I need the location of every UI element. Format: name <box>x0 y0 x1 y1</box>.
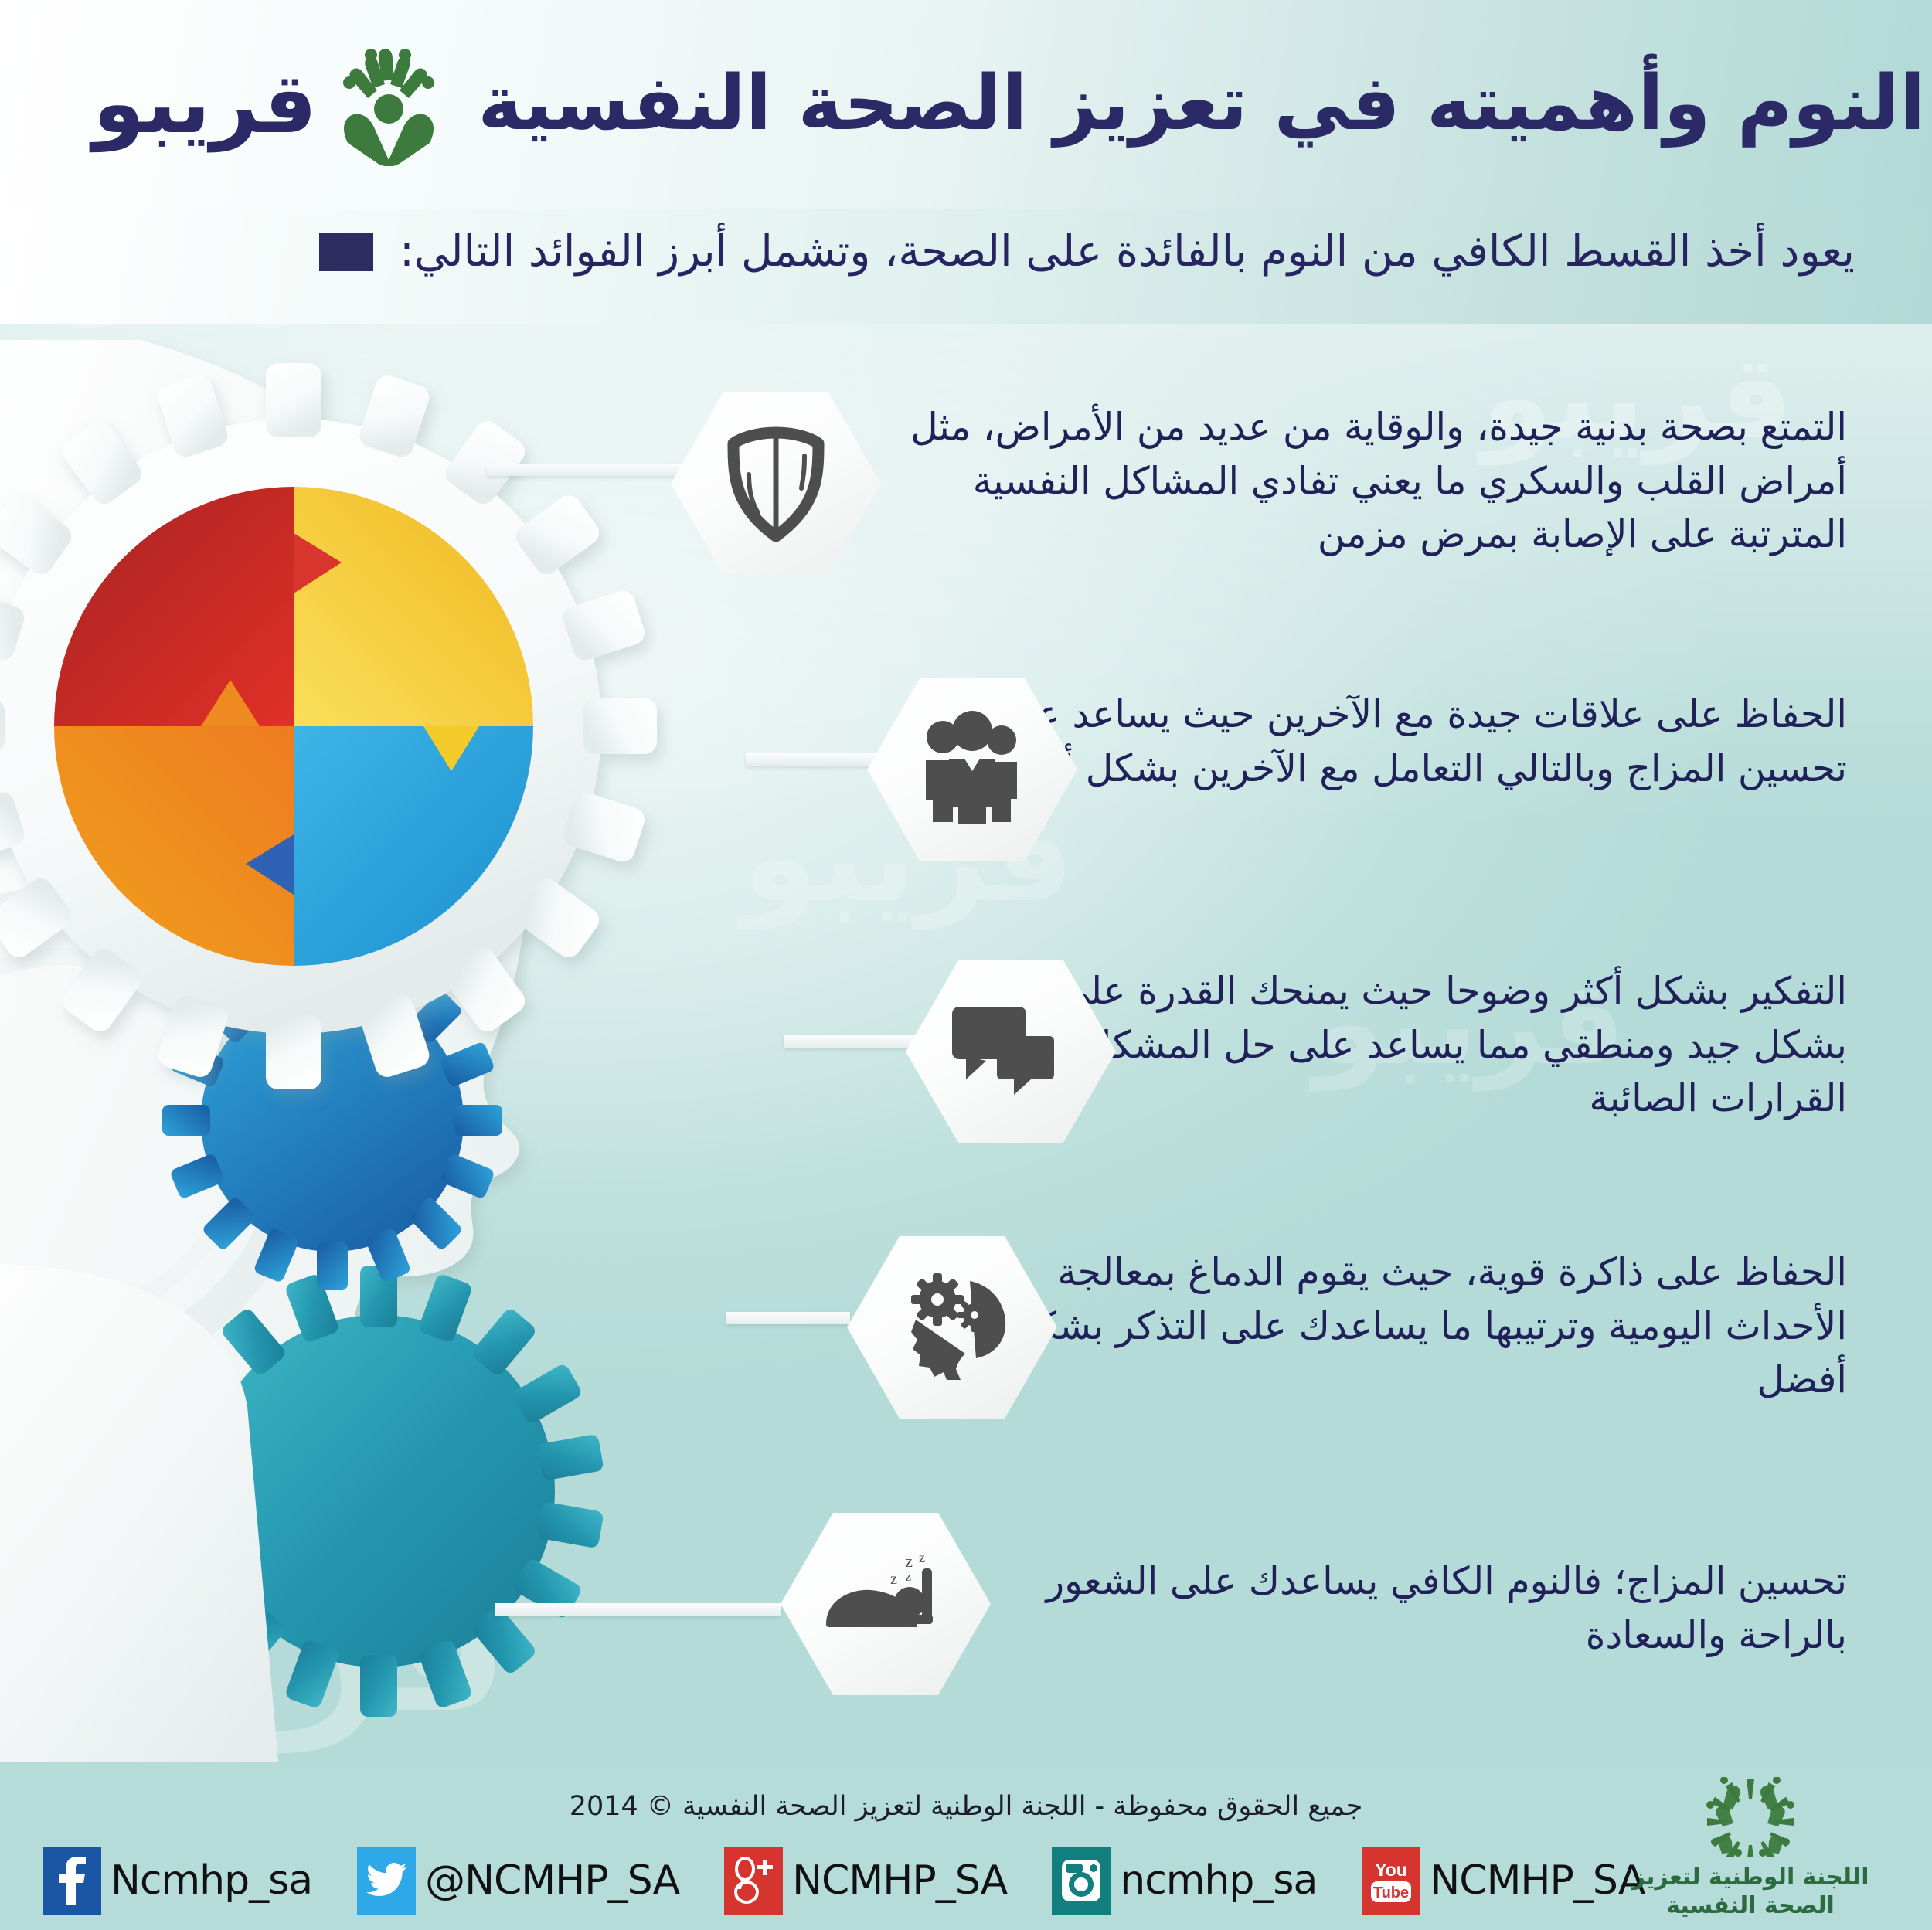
svg-text:z: z <box>890 1571 897 1588</box>
connector-line-1 <box>487 464 688 476</box>
sleeping-person-icon: z z z z <box>821 1550 950 1658</box>
connector-line-4 <box>726 1312 850 1324</box>
starburst-people-logo-icon <box>1698 1777 1803 1860</box>
twitter-handle: @NCMHP_SA <box>425 1857 679 1904</box>
square-bullet-icon <box>319 233 373 271</box>
social-link-googleplus[interactable]: NCMHP_SA <box>724 1847 1007 1915</box>
svg-text:z: z <box>905 1569 911 1584</box>
shield-icon <box>718 423 834 544</box>
connector-line-2 <box>746 753 881 766</box>
instagram-handle: ncmhp_sa <box>1120 1857 1317 1904</box>
chat-bubbles-icon <box>949 1002 1073 1101</box>
header: قريبو <box>0 0 1932 209</box>
brand-logo[interactable]: قريبو <box>93 42 447 166</box>
benefit-text-5: تحسين المزاج؛ فالنوم الكافي يساعدك على ا… <box>981 1555 1847 1662</box>
youtube-icon: You Tube <box>1362 1847 1420 1915</box>
connector-line-5 <box>495 1603 781 1616</box>
social-links: Ncmhp_sa @NCMHP_SA <box>43 1847 1645 1915</box>
org-logo: اللجنة الوطنية لتعزيز الصحة النفسية <box>1623 1777 1878 1924</box>
connector-line-3 <box>784 1035 916 1048</box>
org-name: اللجنة الوطنية لتعزيز الصحة النفسية <box>1623 1864 1878 1920</box>
people-starburst-logo-icon <box>331 42 447 166</box>
social-link-facebook[interactable]: Ncmhp_sa <box>43 1847 312 1915</box>
instagram-icon <box>1052 1847 1111 1915</box>
teal-neck-gear <box>0 1263 604 1762</box>
page-title: النوم وأهميته في تعزيز الصحة النفسية <box>478 62 1925 147</box>
googleplus-handle: NCMHP_SA <box>792 1857 1007 1904</box>
group-people-icon <box>912 709 1032 830</box>
social-link-twitter[interactable]: @NCMHP_SA <box>357 1847 679 1915</box>
facebook-handle: Ncmhp_sa <box>111 1857 312 1904</box>
svg-text:Tube: Tube <box>1373 1884 1409 1901</box>
svg-text:z: z <box>905 1551 913 1571</box>
social-link-instagram[interactable]: ncmhp_sa <box>1052 1847 1317 1915</box>
brand-name: قريبو <box>93 63 317 146</box>
infographic-page: قريبو قريبو قريبو قريبو قريبو <box>0 0 1932 1930</box>
social-link-youtube[interactable]: You Tube NCMHP_SA <box>1362 1847 1645 1915</box>
svg-text:You: You <box>1375 1860 1407 1880</box>
intro-row: يعود أخذ القسط الكافي من النوم بالفائدة … <box>319 224 1855 280</box>
benefit-text-1: التمتع بصحة بدنية جيدة، والوقاية من عديد… <box>850 400 1847 562</box>
benefit-text-4: الحفاظ على ذاكرة قوية، حيث يقوم الدماغ ب… <box>981 1245 1847 1407</box>
google-plus-icon <box>724 1847 783 1915</box>
head-with-gears-icon <box>889 1269 1015 1386</box>
four-quadrant-wheel <box>54 487 533 966</box>
benefit-text-2: الحفاظ على علاقات جيدة مع الآخرين حيث يس… <box>974 688 1847 795</box>
facebook-icon <box>43 1847 101 1915</box>
youtube-handle: NCMHP_SA <box>1430 1857 1645 1904</box>
intro-text: يعود أخذ القسط الكافي من النوم بالفائدة … <box>400 224 1855 280</box>
svg-text:z: z <box>919 1550 925 1565</box>
twitter-icon <box>357 1847 416 1915</box>
